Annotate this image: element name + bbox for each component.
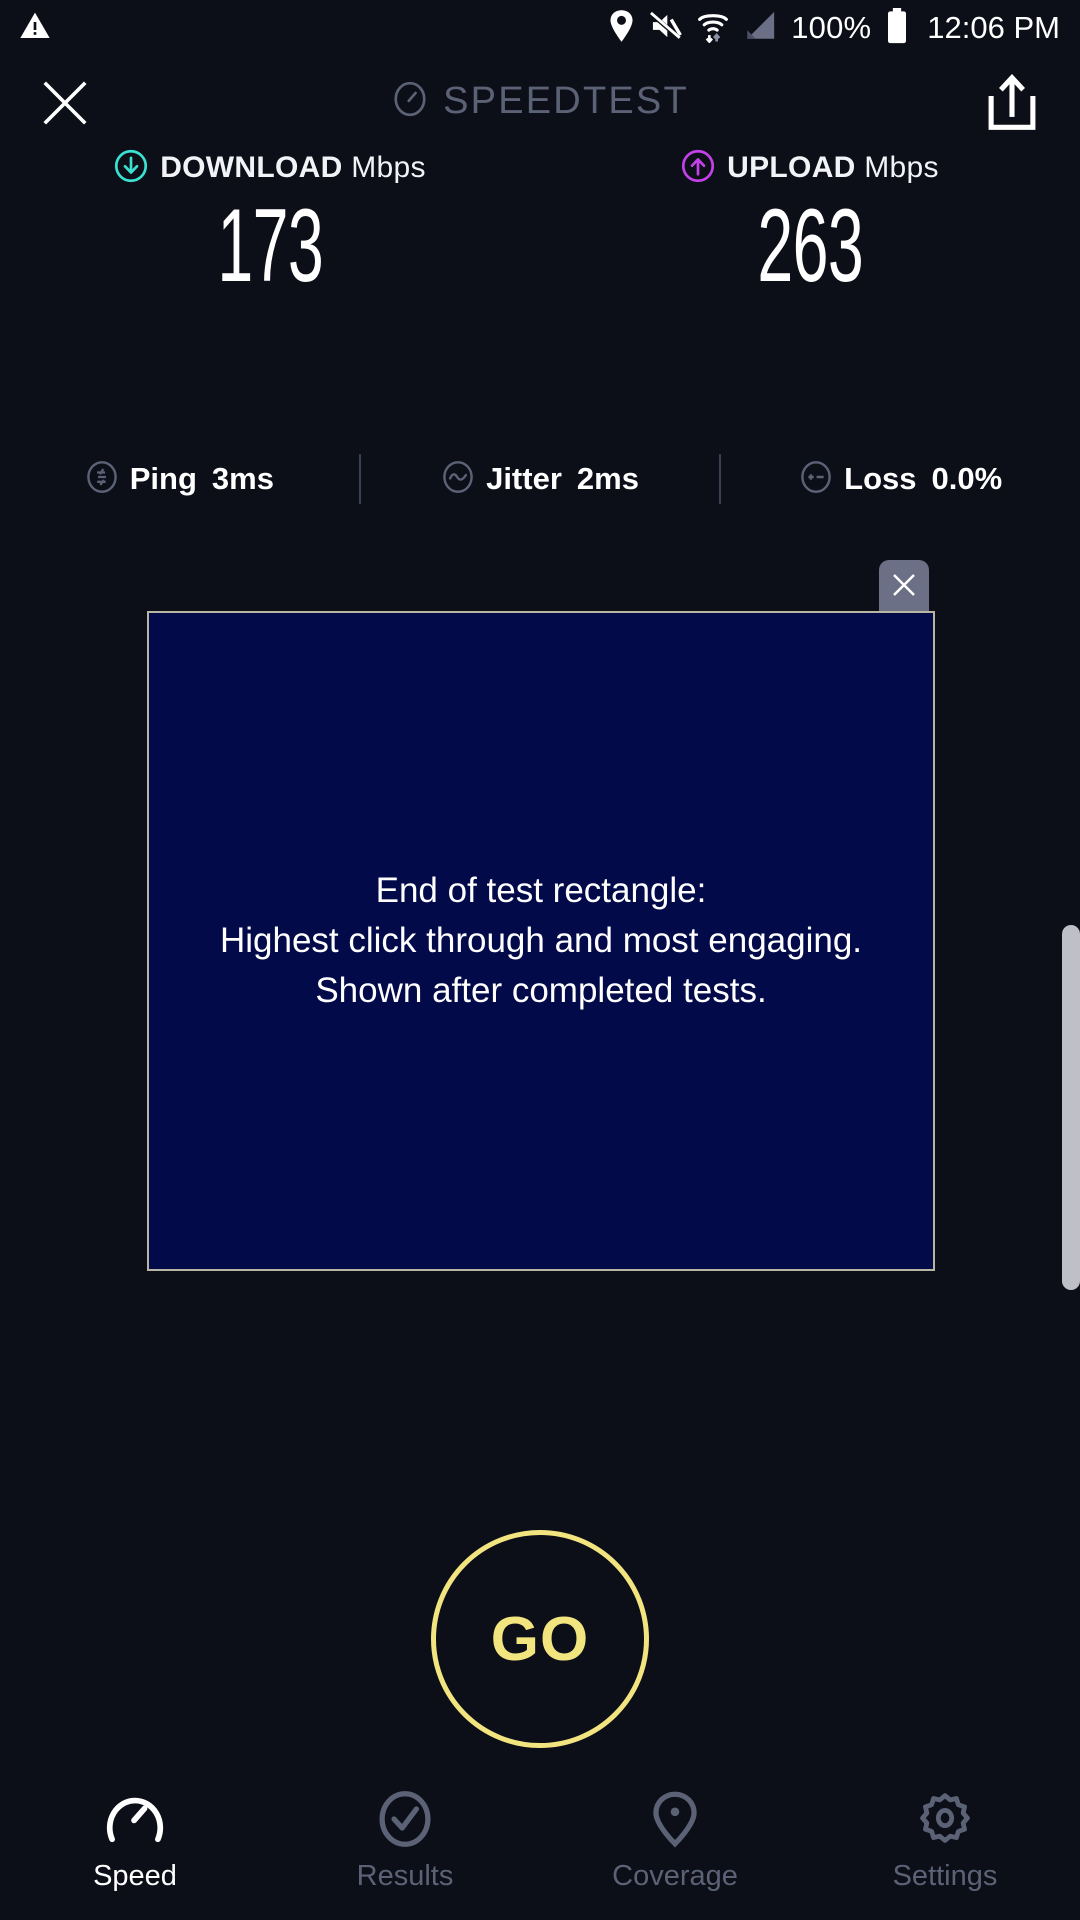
nav-label-coverage: Coverage <box>612 1860 738 1893</box>
download-label: DOWNLOAD Mbps <box>160 151 426 185</box>
nav-item-coverage[interactable]: Coverage <box>540 1780 810 1920</box>
ad-close-x-icon <box>889 570 919 605</box>
nav-item-speed[interactable]: Speed <box>0 1780 270 1920</box>
ping-icon <box>85 460 119 499</box>
upload-label-row: UPLOAD Mbps <box>681 146 939 190</box>
scrollbar-thumb[interactable] <box>1062 925 1080 1290</box>
nav-label-speed: Speed <box>93 1860 177 1893</box>
go-button[interactable]: GO <box>431 1530 649 1748</box>
loss-value: 0.0% <box>932 461 1003 497</box>
download-label-row: DOWNLOAD Mbps <box>114 146 426 190</box>
location-pin-icon <box>644 1788 706 1850</box>
jitter-label: Jitter <box>486 461 562 497</box>
upload-arrow-icon <box>681 149 715 188</box>
check-circle-icon <box>374 1788 436 1850</box>
jitter-icon <box>441 460 475 499</box>
ping-value: 3ms <box>212 461 274 497</box>
status-bar: 100% 12:06 PM <box>0 0 1080 56</box>
connection-stats-row: Ping 3ms Jitter 2ms <box>0 444 1080 514</box>
clock-label: 12:06 PM <box>927 10 1060 46</box>
battery-full-icon <box>885 8 909 49</box>
warning-triangle-icon <box>18 10 52 47</box>
share-button[interactable] <box>986 74 1038 132</box>
ad-text: End of test rectangle: Highest click thr… <box>220 866 862 1015</box>
ad-close-button[interactable] <box>879 560 929 615</box>
loss-label: Loss <box>844 461 916 497</box>
upload-value: 263 <box>757 194 863 298</box>
bottom-navigation-bar: Speed Results Coverage <box>0 1780 1080 1920</box>
wifi-icon <box>697 9 729 48</box>
status-bar-right: 100% 12:06 PM <box>608 8 1060 49</box>
speedometer-icon <box>391 80 429 123</box>
app-title-group: SPEEDTEST <box>0 56 1080 146</box>
battery-percent-label: 100% <box>791 10 871 46</box>
stat-jitter: Jitter 2ms <box>361 460 720 499</box>
loss-icon <box>799 460 833 499</box>
advertisement-banner[interactable]: End of test rectangle: Highest click thr… <box>147 611 935 1271</box>
download-metric: DOWNLOAD Mbps 173 <box>0 146 540 298</box>
results-panel: DOWNLOAD Mbps 173 UPLOAD Mbps 263 <box>0 146 1080 298</box>
speedtest-app-screen: 100% 12:06 PM SPEEDTEST <box>0 0 1080 1920</box>
nav-label-results: Results <box>357 1860 454 1893</box>
status-bar-left <box>18 10 52 47</box>
download-value: 173 <box>217 194 323 298</box>
page-title: SPEEDTEST <box>443 80 689 123</box>
nav-label-settings: Settings <box>893 1860 998 1893</box>
download-arrow-icon <box>114 149 148 188</box>
app-header: SPEEDTEST <box>0 56 1080 146</box>
upload-metric: UPLOAD Mbps 263 <box>540 146 1080 298</box>
ping-label: Ping <box>130 461 197 497</box>
upload-label: UPLOAD Mbps <box>727 151 939 185</box>
cellular-signal-icon <box>743 10 777 47</box>
volume-muted-icon <box>649 10 683 47</box>
go-button-label: GO <box>491 1604 589 1675</box>
nav-item-results[interactable]: Results <box>270 1780 540 1920</box>
gear-icon <box>914 1788 976 1850</box>
stat-ping: Ping 3ms <box>0 460 359 499</box>
nav-item-settings[interactable]: Settings <box>810 1780 1080 1920</box>
speed-results-row: DOWNLOAD Mbps 173 UPLOAD Mbps 263 <box>0 146 1080 298</box>
location-pin-icon <box>608 9 635 48</box>
speedometer-icon <box>104 1788 166 1850</box>
jitter-value: 2ms <box>577 461 639 497</box>
stat-loss: Loss 0.0% <box>721 460 1080 499</box>
